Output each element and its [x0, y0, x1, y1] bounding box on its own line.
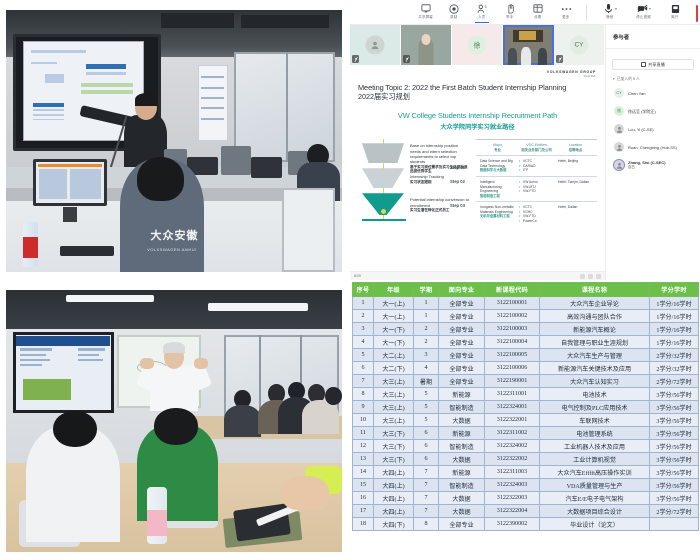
- cell-credits: 1学分/16学时: [650, 323, 699, 336]
- participant-name: Lou, Yi (C-SE): [628, 127, 654, 132]
- slide-topic-en: Meeting Topic 2: 2022 the First Batch St…: [358, 83, 597, 92]
- funnel-en-1: Base on internship position needs and in…: [410, 143, 470, 165]
- cell-major: 全部专业: [439, 362, 485, 375]
- leave-meeting-indicator[interactable]: [696, 5, 698, 22]
- cell-semester: 8: [414, 518, 439, 531]
- cell-credits: 2学分/72学时: [650, 505, 699, 518]
- room-person: [538, 48, 547, 65]
- foreground-hand: [282, 476, 329, 510]
- hand-icon: [505, 3, 516, 14]
- cell-semester: 3: [414, 349, 439, 362]
- mic-button[interactable]: ▾ 静音: [597, 3, 623, 20]
- screen-text-line: [20, 348, 52, 350]
- video-tile-4-active[interactable]: [503, 25, 554, 65]
- cell-location: Hefei, Dalian: [556, 205, 595, 223]
- avatar: CY: [614, 88, 624, 98]
- toolbar-divider: [586, 5, 587, 21]
- cell-code: 3122324001: [485, 401, 540, 414]
- slide-footer-bar: 8/26: [350, 271, 605, 280]
- slide-topic-cn: 2022届实习规划: [358, 92, 597, 101]
- people-icon: 5: [477, 3, 488, 14]
- screen-text-line: [20, 354, 47, 356]
- cell-index: 16: [353, 492, 374, 505]
- cell-semester: 5: [414, 401, 439, 414]
- cell-credits: 3学分/56学时: [650, 401, 699, 414]
- cell-credits: 3学分/56学时: [650, 414, 699, 427]
- table-row: 5大二(上)3全部专业3122100005大众汽车生产与管理2学分/32学时: [353, 349, 699, 362]
- cell-grade: 大四(上): [374, 466, 414, 479]
- slide-green-box: [81, 83, 133, 87]
- cell-code: 3122390002: [485, 518, 540, 531]
- major-cn: 智能制造工程: [480, 194, 515, 198]
- uniform-logo-cn: 大众安徽: [150, 227, 198, 243]
- major-cn: 数据科学与大数据: [480, 168, 515, 172]
- table-row: Inorganic Non-metallic Materials Enginee…: [476, 201, 597, 226]
- cell-course-name: 高效沟通与团队合作: [540, 310, 650, 323]
- chevron-down-icon[interactable]: ▾: [649, 6, 651, 11]
- cell-grade: 大二(下): [374, 362, 414, 375]
- video-meeting-window: 共享屏幕 录制 5 人员: [350, 0, 700, 280]
- cell-major: 全部专业: [439, 297, 485, 310]
- monitor-icon: [421, 3, 432, 14]
- recording-label: 录制: [450, 15, 457, 20]
- table-row: 1大一(上)1全部专业3122100001大众汽车企业导论1学分/16学时: [353, 297, 699, 310]
- student-green-head: [154, 408, 198, 445]
- participants-button[interactable]: 5 人员: [472, 3, 492, 23]
- self-tag: 自己: [628, 165, 666, 169]
- screen-photo: [23, 379, 70, 400]
- lecturer-hair: [163, 342, 185, 352]
- entity-item: VW-FTD: [519, 189, 554, 194]
- header-index: 序号: [353, 283, 374, 297]
- meeting-toolbar: 共享屏幕 录制 5 人员: [350, 0, 700, 25]
- bottle-label: [23, 237, 38, 258]
- cell-credits: 2学分/32学时: [650, 349, 699, 362]
- cell-code: 3122100002: [485, 310, 540, 323]
- meeting-body: 徐 CY: [350, 25, 700, 280]
- leave-button[interactable]: 离开: [665, 3, 685, 20]
- entity-item: PowerCo: [519, 219, 554, 224]
- cell-semester: 1: [414, 297, 439, 310]
- table-row: 13大三(下)6大数据3122322002工业计算机视觉3学分/56学时: [353, 453, 699, 466]
- table-row: 6大二(下)4全部专业3122100006新能源汽车关键技术及应用2学分/32学…: [353, 362, 699, 375]
- cell-course-name: VDA质量管理与生产: [540, 479, 650, 492]
- cell-index: 5: [353, 349, 374, 362]
- cell-major: 全部专业: [439, 375, 485, 388]
- mic-muted-icon: [403, 55, 410, 63]
- mic-row: ▾: [603, 3, 617, 14]
- cell-grade: 大四(上): [374, 492, 414, 505]
- mic-icon: [603, 3, 614, 14]
- cell-code: 3122100001: [485, 297, 540, 310]
- header-location: Location 招聘地点: [556, 143, 595, 152]
- wall-poster: [198, 65, 228, 141]
- room-screen-content: [519, 31, 536, 40]
- major-en: Inorganic Non-metallic Materials Enginee…: [480, 205, 515, 214]
- major-entity-table: Major 专业 VGC Entities 相关业务部门及公司 Location: [476, 139, 597, 231]
- cell-code: 3122100005: [485, 349, 540, 362]
- cell-major: 全部专业: [439, 323, 485, 336]
- cell-course-name: 电池技术: [540, 388, 650, 401]
- header-row: 序号 年级 学期 面向专业 新课程代码 课程名称 学分学时: [353, 283, 699, 297]
- cell-index: 6: [353, 362, 374, 375]
- photo-frame-top-left: 大众安徽 VOLKSWAGEN ANHUI: [0, 0, 350, 280]
- participant-name: Zhang, Sisi (C-SEC) 自己: [628, 160, 666, 169]
- cell-grade: 大一(上): [374, 297, 414, 310]
- student-white-head: [53, 411, 97, 448]
- cell-major: 新能源: [439, 466, 485, 479]
- table-row: 17大四(上)7大数据3122322004大数据项目综合设计2学分/72学时: [353, 505, 699, 518]
- ceiling-panel: [241, 15, 328, 28]
- participant-row[interactable]: CY Chen Yan: [612, 84, 694, 102]
- cell-grade: 大四(下): [374, 518, 414, 531]
- cell-major: 大数据: [439, 492, 485, 505]
- cell-location: Hefei, Tianjin, Dalian: [556, 180, 595, 198]
- screenshot-root: 大众安徽 VOLKSWAGEN ANHUI: [0, 0, 700, 560]
- cell-credits: 1学分/16学时: [650, 336, 699, 349]
- cell-semester: 1: [414, 310, 439, 323]
- cell-credits: 3学分/56学时: [650, 427, 699, 440]
- photo-lab-classroom: 大众安徽 VOLKSWAGEN ANHUI: [0, 0, 350, 280]
- header-major: Major 专业: [478, 143, 517, 152]
- cell-credits: 3学分/56学时: [650, 388, 699, 401]
- screen-text-line: [78, 359, 103, 361]
- panel-title: 参与者: [606, 25, 700, 49]
- instructor-hair: [135, 93, 159, 106]
- funnel-stage-2: [362, 168, 404, 188]
- cell-code: 3122322001: [485, 414, 540, 427]
- table-row: Data Science and Big Data Technology 数据科…: [476, 155, 597, 176]
- cell-semester: 6: [414, 440, 439, 453]
- participant-row[interactable]: Ruan, Chengbing (Hub-SS): [612, 138, 694, 156]
- cell-grade: 大三(下): [374, 427, 414, 440]
- ceiling-light: [66, 295, 153, 302]
- cell-major: 新能源: [439, 388, 485, 401]
- ceiling: [6, 290, 342, 335]
- video-tile-1[interactable]: [350, 25, 401, 65]
- cell-credits: 3学分/56学时: [650, 479, 699, 492]
- drink-bottle-label: [147, 510, 167, 536]
- cell-credits: 3学分/56学时: [650, 440, 699, 453]
- chevron-down-icon: ▾: [613, 77, 615, 81]
- slide-title-line: [31, 50, 86, 53]
- photo-image-seminar: [6, 290, 342, 552]
- lab-monitor: [251, 157, 281, 178]
- avatar-initial: CY: [570, 36, 589, 55]
- header-entities: VGC Entities 相关业务部门及公司: [517, 143, 556, 152]
- table-row: 9大三(上)5智能制造3122324001电气控制及PLC应用技术3学分/56学…: [353, 401, 699, 414]
- equipment-panel: [282, 188, 336, 272]
- funnel-step-3: Step 03: [450, 203, 465, 208]
- video-tile-5[interactable]: CY: [554, 25, 605, 65]
- cell-course-name: 大众汽车认知实习: [540, 375, 650, 388]
- camera-icon: [637, 3, 648, 14]
- avatar: [614, 124, 624, 134]
- cell-major: 智能制造: [439, 440, 485, 453]
- lab-equipment: [221, 146, 251, 175]
- cell-course-name: 新能源汽车概论: [540, 323, 650, 336]
- cell-index: 15: [353, 479, 374, 492]
- cell-credits: 1学分/16学时: [650, 310, 699, 323]
- table-row: 8大三(上)5新能源3122311001电池技术3学分/56学时: [353, 388, 699, 401]
- share-screen-button[interactable]: 共享屏幕: [416, 3, 436, 20]
- cell-major: Data Science and Big Data Technology 数据科…: [478, 159, 517, 173]
- cell-index: 2: [353, 310, 374, 323]
- desktop-monitor: [33, 159, 107, 206]
- slide-control-button[interactable]: [588, 274, 593, 279]
- header-semester: 学期: [414, 283, 439, 297]
- header-credits: 学分学时: [650, 283, 699, 297]
- cell-index: 18: [353, 518, 374, 531]
- funnel-step-2: Step 02: [450, 179, 465, 184]
- cell-credits: 3学分/56学时: [650, 492, 699, 505]
- cell-semester: 2: [414, 323, 439, 336]
- slide-list-row: [33, 119, 64, 121]
- cell-credits: [650, 518, 699, 531]
- cell-entities: VW Anhui VW-MTJ VW-FTD: [517, 180, 556, 198]
- chevron-down-icon[interactable]: ▾: [615, 6, 617, 11]
- ellipsis-icon: [561, 3, 572, 14]
- cell-major: 大数据: [439, 453, 485, 466]
- cell-index: 14: [353, 466, 374, 479]
- cell-grade: 大一(下): [374, 323, 414, 336]
- cell-grade: 大四(上): [374, 505, 414, 518]
- participant-row[interactable]: Lou, Yi (C-SE): [612, 120, 694, 138]
- cell-grade: 大四(上): [374, 479, 414, 492]
- funnel-stage-1: [362, 143, 404, 163]
- table-row: 11大三(下)6新能源3122311002电池管理系统3学分/56学时: [353, 427, 699, 440]
- cell-course-name: 大众汽车生产与管理: [540, 349, 650, 362]
- cell-major: 全部专业: [439, 518, 485, 531]
- cell-index: 12: [353, 440, 374, 453]
- video-tile-2[interactable]: [401, 25, 452, 65]
- cell-major: 大数据: [439, 414, 485, 427]
- cell-semester: 4: [414, 362, 439, 375]
- cell-code: 3122322003: [485, 492, 540, 505]
- slide-section-cn: 大众学院同学实习就业路径: [358, 122, 597, 131]
- cell-major: 大数据: [439, 505, 485, 518]
- screen-text-line: [20, 359, 50, 361]
- avatar: 徐: [614, 106, 624, 116]
- avatar: [614, 142, 624, 152]
- cell-course-name: 工业机器人技术及应用: [540, 440, 650, 453]
- header-major: 面向专业: [439, 283, 485, 297]
- cell-course-name: 大众汽车企业导论: [540, 297, 650, 310]
- slide-page-number: 8/26: [354, 274, 361, 278]
- cell-major: Inorganic Non-metallic Materials Enginee…: [478, 205, 517, 223]
- table-body: 1大一(上)1全部专业3122100001大众汽车企业导论1学分/16学时2大一…: [353, 297, 699, 531]
- cell-major: 智能制造: [439, 401, 485, 414]
- cell-index: 11: [353, 427, 374, 440]
- video-tile-strip: 徐 CY: [350, 25, 605, 65]
- mic-label: 静音: [606, 15, 613, 20]
- cell-major: 全部专业: [439, 310, 485, 323]
- cell-code: 3122324002: [485, 440, 540, 453]
- cell-credits: 3学分/56学时: [650, 466, 699, 479]
- participants-label: 人员: [478, 15, 485, 20]
- participant-name: Chen Yan: [628, 91, 645, 96]
- table-head: 序号 年级 学期 面向专业 新课程代码 课程名称 学分学时: [353, 283, 699, 297]
- group-label: 已加入的 5 人: [617, 77, 640, 81]
- camera-button[interactable]: ▾ 停止视频: [631, 3, 657, 20]
- cell-grade: 大三(下): [374, 440, 414, 453]
- screen-text-line: [20, 364, 43, 366]
- lecturer-hand-left: [140, 358, 153, 368]
- slide-control-button[interactable]: [580, 274, 585, 279]
- share-live-button[interactable]: 共享直播: [612, 59, 694, 70]
- table-row: 16大四(上)7大数据3122322003汽车E/E电子电气架构3学分/56学时: [353, 492, 699, 505]
- lecturer-hand-right: [194, 358, 207, 368]
- cell-course-name: 汽车E/E电子电气架构: [540, 492, 650, 505]
- cell-credits: 2学分/32学时: [650, 362, 699, 375]
- audience-body: [224, 405, 261, 436]
- audience-body: [302, 400, 339, 434]
- cell-index: 7: [353, 375, 374, 388]
- slide-content: Base on internship position needs and in…: [358, 139, 597, 231]
- cell-course-name: 电气控制及PLC应用技术: [540, 401, 650, 414]
- slide-list-row: [33, 114, 64, 116]
- curriculum-table: 序号 年级 学期 面向专业 新课程代码 课程名称 学分学时 1大一(上)1全部专…: [352, 282, 699, 531]
- slide-blue-box: [86, 64, 126, 69]
- camera-row: ▾: [637, 3, 651, 14]
- photo-image-lab: 大众安徽 VOLKSWAGEN ANHUI: [6, 10, 342, 272]
- slide-list-header: [33, 103, 64, 107]
- toolbar-buttons: 共享屏幕 录制 5 人员: [416, 0, 698, 23]
- cell-code: 3122324003: [485, 479, 540, 492]
- table-row: Intelligent Manufacturing Engineering 智能…: [476, 176, 597, 201]
- svg-text:5: 5: [484, 5, 486, 9]
- cell-code: 3122190001: [485, 375, 540, 388]
- cell-credits: 2学分/72学时: [650, 375, 699, 388]
- major-cn: 无机非金属材料工程: [480, 214, 515, 218]
- share-screen-label: 共享屏幕: [419, 15, 434, 20]
- table-row: 18大四(下)8全部专业3122390002毕业设计（论文）: [353, 518, 699, 531]
- record-icon: [449, 3, 460, 14]
- room-person: [521, 47, 531, 65]
- slide-list-row: [33, 109, 64, 111]
- room-person: [508, 48, 517, 65]
- keyboard: [60, 246, 114, 256]
- more-label: 更多: [562, 15, 569, 20]
- major-en: Intelligent Manufacturing Engineering: [480, 180, 515, 194]
- cell-semester: 5: [414, 414, 439, 427]
- participants-panel: 参与者 共享直播 ▾已加入的 5 人 CY Chen Yan: [605, 25, 700, 280]
- recording-button[interactable]: 录制: [444, 3, 464, 20]
- participants-group-header[interactable]: ▾已加入的 5 人: [606, 70, 700, 84]
- header-grade: 年级: [374, 283, 414, 297]
- cell-code: 3122311003: [485, 466, 540, 479]
- monitor-stand: [63, 207, 76, 223]
- table-row: 3大一(下)2全部专业3122100003新能源汽车概论1学分/16学时: [353, 323, 699, 336]
- header-location-cn: 招聘地点: [556, 147, 595, 152]
- cell-grade: 大一(上): [374, 310, 414, 323]
- cell-code: 3122322002: [485, 453, 540, 466]
- layout-button[interactable]: 设置: [528, 3, 548, 20]
- uniform-logo-en: VOLKSWAGEN ANHUI: [147, 247, 197, 252]
- cell-semester: 暑期: [414, 375, 439, 388]
- cell-entities: VCTC CARIAD ITP: [517, 159, 556, 173]
- table-row: 12大三(下)6智能制造3122324002工业机器人技术及应用3学分/56学时: [353, 440, 699, 453]
- cell-code: 3122311001: [485, 388, 540, 401]
- slide-controls[interactable]: [580, 274, 601, 279]
- participant-row[interactable]: 徐 徐远至 (学院正): [612, 102, 694, 120]
- table-row: 14大四(上)7新能源3122311003大众汽车Efffft高压操作实训3学分…: [353, 466, 699, 479]
- slide-section-en: VW College Students Internship Recruitme…: [358, 111, 597, 120]
- cell-credits: 1学分/16学时: [650, 297, 699, 310]
- table-row: 15大四(上)7智能制造3122324003VDA质量管理与生产3学分/56学时: [353, 479, 699, 492]
- cell-index: 10: [353, 414, 374, 427]
- cell-course-name: 工业计算机视觉: [540, 453, 650, 466]
- funnel-diagram: Base on internship position needs and in…: [358, 139, 470, 231]
- cell-grade: 大三(上): [374, 414, 414, 427]
- cell-grade: 大三(下): [374, 453, 414, 466]
- entity-item: ITP: [519, 168, 554, 173]
- participant-row-self[interactable]: Zhang, Sisi (C-SEC) 自己: [612, 156, 694, 174]
- monitor-toolbar: [38, 164, 102, 167]
- entity-list: VW Anhui VW-MTJ VW-FTD: [519, 180, 554, 194]
- participant-name: 徐远至 (学院正): [628, 109, 656, 114]
- brand-line-2: CHINA: [547, 74, 596, 78]
- cell-semester: 6: [414, 427, 439, 440]
- leave-label: 离开: [671, 15, 678, 20]
- header-code: 新课程代码: [485, 283, 540, 297]
- cell-semester: 2: [414, 336, 439, 349]
- entity-list: VCTC CARIAD ITP: [519, 159, 554, 173]
- cell-major: 智能制造: [439, 479, 485, 492]
- cell-code: 3122100004: [485, 336, 540, 349]
- window-mullion: [286, 52, 288, 162]
- vw-brand-logo: VOLKSWAGEN GROUP CHINA: [547, 70, 596, 78]
- cell-major: Intelligent Manufacturing Engineering 智能…: [478, 180, 517, 198]
- cell-course-name: 车联网技术: [540, 414, 650, 427]
- camera-label: 停止视频: [637, 15, 652, 20]
- table-row: 4大一(下)2全部专业3122100004自我管理与职业生涯规划1学分/16学时: [353, 336, 699, 349]
- table-header-row: Major 专业 VGC Entities 相关业务部门及公司 Location: [476, 140, 597, 155]
- cell-index: 13: [353, 453, 374, 466]
- cell-code: 3122322004: [485, 505, 540, 518]
- header-course-name: 课程名称: [540, 283, 650, 297]
- cell-index: 1: [353, 297, 374, 310]
- funnel-baseline: [362, 219, 406, 221]
- cell-grade: 大三(上): [374, 388, 414, 401]
- cell-index: 17: [353, 505, 374, 518]
- cell-semester: 5: [414, 388, 439, 401]
- monitor-pane-right: [70, 169, 101, 199]
- raise-hand-button[interactable]: 举手: [500, 3, 520, 20]
- raise-hand-label: 举手: [506, 15, 513, 20]
- slide-control-button[interactable]: [596, 274, 601, 279]
- screen-text-line: [78, 354, 99, 356]
- course-curriculum-table: 序号 年级 学期 面向专业 新课程代码 课程名称 学分学时 1大一(上)1全部专…: [350, 280, 700, 560]
- cell-grade: 大一(下): [374, 336, 414, 349]
- more-button[interactable]: 更多: [556, 3, 576, 20]
- mic-muted-icon: [352, 55, 359, 63]
- cell-major: 全部专业: [439, 349, 485, 362]
- cell-course-name: 大数据项目综合设计: [540, 505, 650, 518]
- slide-line: [31, 62, 57, 64]
- layout-label: 设置: [534, 15, 541, 20]
- cell-course-name: 新能源汽车关键技术及应用: [540, 362, 650, 375]
- video-tile-3[interactable]: 徐: [452, 25, 503, 65]
- meeting-stage: 徐 CY: [350, 25, 605, 280]
- meeting-app: 共享屏幕 录制 5 人员: [350, 0, 700, 280]
- table-row: 7大三(上)暑期全部专业3122190001大众汽车认知实习2学分/72学时: [353, 375, 699, 388]
- cell-grade: 大二(上): [374, 349, 414, 362]
- cell-index: 8: [353, 388, 374, 401]
- screen-text-line: [78, 348, 105, 350]
- ceiling-panel: [161, 13, 235, 29]
- ceiling-light: [208, 303, 309, 311]
